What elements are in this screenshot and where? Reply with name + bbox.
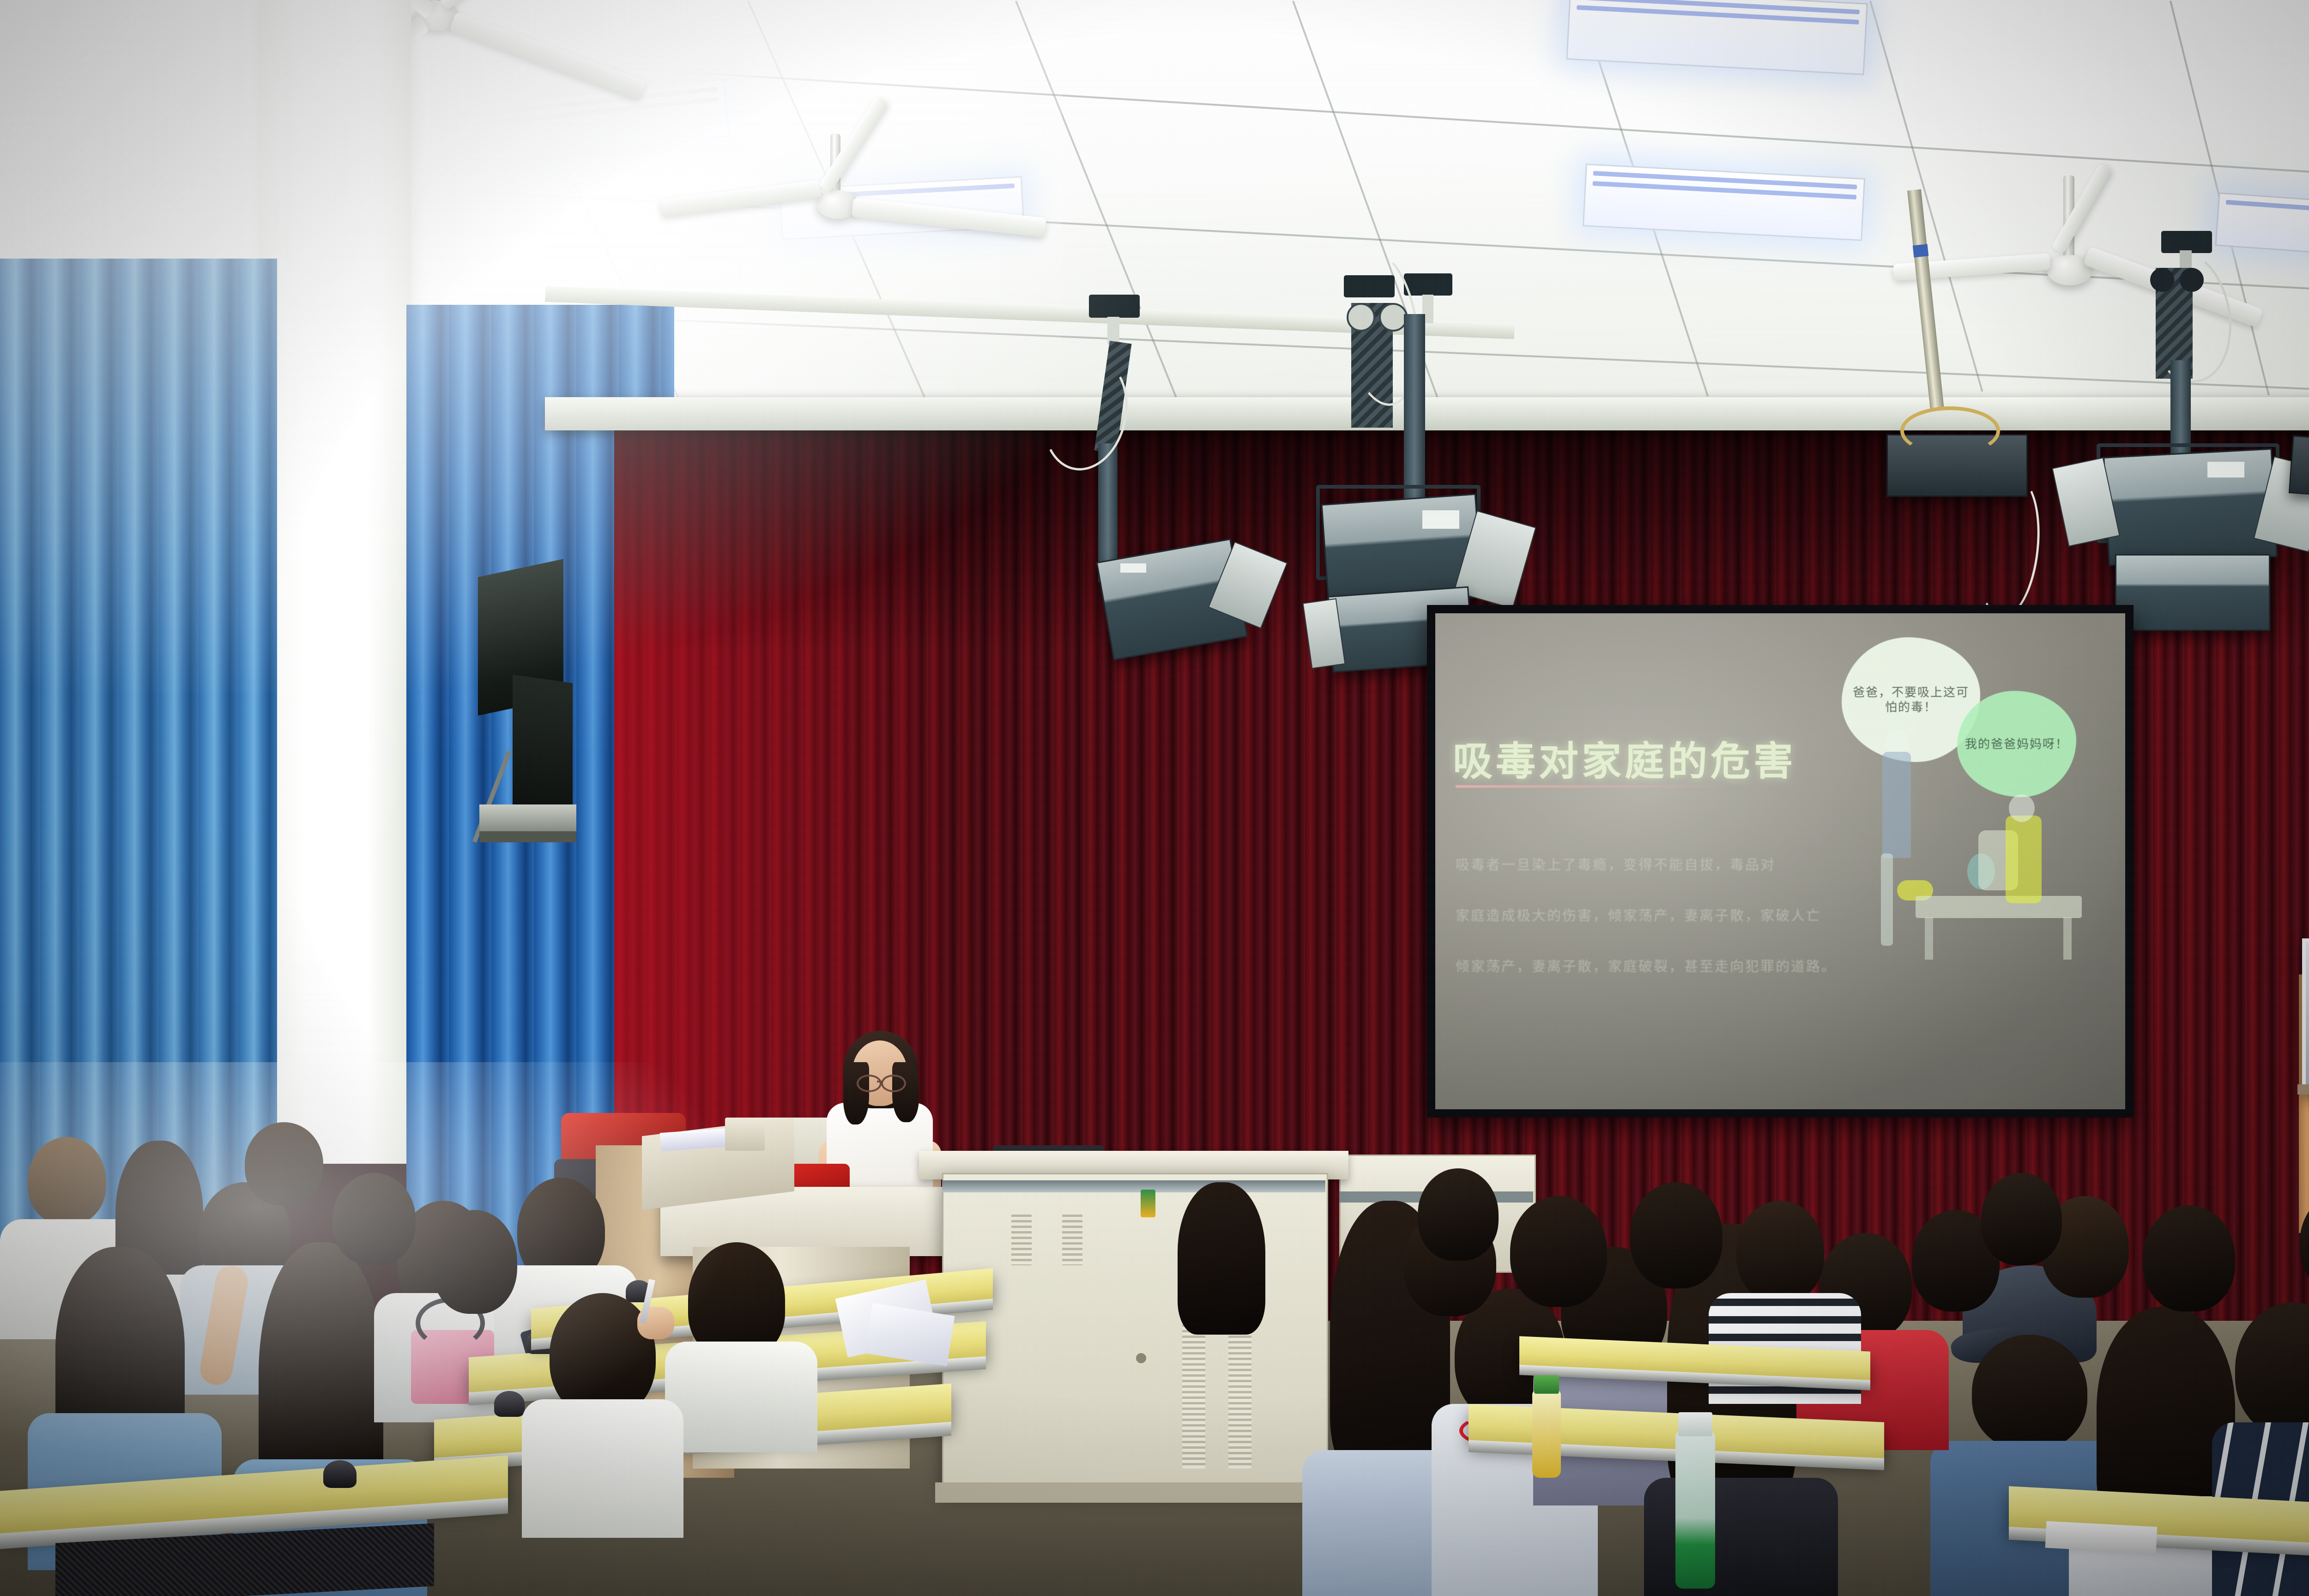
water-bottle-yellow [1532, 1390, 1561, 1478]
cabinet-base-plinth [935, 1482, 1332, 1503]
cabinet-indicator-light [1141, 1190, 1155, 1217]
cabinet-vent [1062, 1215, 1082, 1265]
student-shoulders [1644, 1478, 1838, 1596]
student-head [2143, 1205, 2235, 1312]
cartoon-bench [1916, 896, 2082, 918]
whiteboard-tray [2297, 1084, 2309, 1094]
window-curtain-left [0, 259, 277, 1293]
student-head [1418, 1168, 1499, 1261]
pole-tape-marker [1913, 244, 1929, 257]
light-stem [1404, 314, 1425, 499]
student-hair [1178, 1182, 1265, 1335]
presenter-glasses-right-lens [881, 1075, 906, 1092]
stage-light-fixture [2103, 448, 2278, 566]
student-head [245, 1122, 323, 1205]
cartoon-figure-mother-head [2009, 794, 2035, 822]
speech-bubble-right: 我的爸爸妈妈呀！ [1957, 691, 2076, 797]
light-stem [2170, 360, 2191, 457]
presenter-glasses-left-lens [857, 1075, 882, 1092]
water-bottle-green [1675, 1432, 1715, 1589]
projection-screen-frame: 吸毒对家庭的危害 吸毒者一旦染上了毒瘾，变得不能自拔，毒品对 家庭造成极大的伤害… [1427, 605, 2134, 1118]
equipment-cabinet [942, 1173, 1328, 1490]
cartoon-figure-father-leg [1881, 853, 1893, 946]
speaker-shelf-under [479, 831, 576, 842]
clamp-bolt [1107, 317, 1119, 345]
stage-light-rig-right [2087, 222, 2309, 647]
slide-body-line-1: 吸毒者一旦染上了毒瘾，变得不能自拔，毒品对 [1456, 853, 1776, 874]
projector-cable-bundle [1900, 406, 2000, 455]
presenter-hair-left [843, 1062, 869, 1124]
student-head [1972, 1335, 2087, 1450]
fan-blade [852, 198, 1046, 237]
truss-clamp [1089, 295, 1140, 318]
student-head [688, 1242, 785, 1358]
whiteboard [2302, 938, 2309, 1094]
wall-speaker-lower [513, 675, 573, 822]
bottle-cap [1534, 1375, 1559, 1394]
fixture-label [1422, 510, 1459, 529]
projector-right [2289, 435, 2309, 501]
slide-title-rule [1456, 785, 1728, 788]
student-head [1736, 1201, 1824, 1302]
cartoon-figure-mother-body [2006, 816, 2042, 903]
fixture-label [1120, 563, 1146, 573]
student-head [28, 1137, 106, 1225]
slide-title: 吸毒对家庭的危害 [1453, 729, 1748, 786]
cartoon-bench-leg [2063, 917, 2072, 960]
fixture-label [2207, 462, 2244, 478]
truss-clamp [1404, 273, 1452, 296]
cartoon-figure-father-body [1882, 752, 1911, 858]
projector-pole [1907, 189, 1944, 411]
student-head [1510, 1196, 1607, 1307]
fan-blade [449, 12, 647, 100]
cartoon-bench-leg [1925, 917, 1933, 960]
cabinet-keyhole [1136, 1353, 1146, 1363]
ceiling-fan-middle [739, 134, 1062, 249]
student-head [432, 1210, 517, 1314]
bottle-cap [1678, 1412, 1712, 1436]
slide-body-line-2: 家庭造成极大的伤害，倾家荡产，妻离子散，家破人亡 [1456, 904, 1821, 925]
presenter-glasses-bridge [877, 1081, 882, 1082]
slide-body-line-3: 倾家荡产，妻离子散，家庭破裂，甚至走向犯罪的道路。 [1456, 955, 1837, 975]
auditorium-photo: 吸毒对家庭的危害 吸毒者一旦染上了毒瘾，变得不能自拔，毒品对 家庭造成极大的伤害… [0, 0, 2309, 1596]
tissue-box-on-podium [725, 1118, 765, 1151]
student-shoulders [522, 1399, 683, 1538]
student-head [332, 1173, 416, 1265]
presenter-hair-right [892, 1062, 919, 1122]
truss-clamp [2161, 231, 2212, 253]
desk-hook [494, 1391, 525, 1417]
student-head [1630, 1182, 1723, 1288]
projection-screen: 吸毒对家庭的危害 吸毒者一旦染上了毒瘾，变得不能自拔，毒品对 家庭造成极大的伤害… [1435, 613, 2125, 1109]
cabinet-upper-slot [942, 1180, 1325, 1192]
student-head [1981, 1173, 2062, 1265]
stage-light-fixture-lower [2115, 554, 2270, 631]
desk-hook [323, 1460, 357, 1488]
cabinet-vent [1011, 1215, 1032, 1265]
student-shoulders [665, 1342, 817, 1452]
